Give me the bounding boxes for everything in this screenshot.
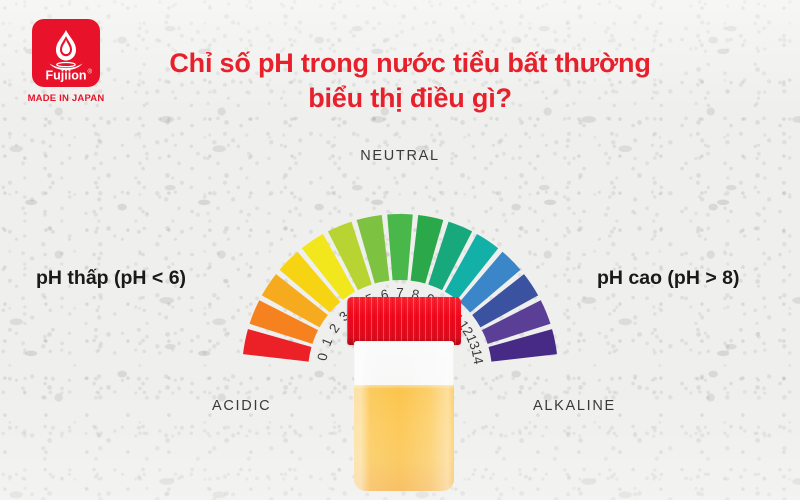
ph-tick-0: 0 [314, 352, 330, 362]
specimen-cup-lid [347, 297, 461, 345]
urine-specimen-cup [346, 297, 462, 493]
specimen-cup-highlight [354, 341, 454, 491]
ph-segment-7 [387, 214, 413, 280]
ph-tick-1: 1 [319, 336, 336, 349]
ph-tick-2: 2 [326, 321, 343, 336]
ph-tick-14: 14 [469, 348, 487, 366]
